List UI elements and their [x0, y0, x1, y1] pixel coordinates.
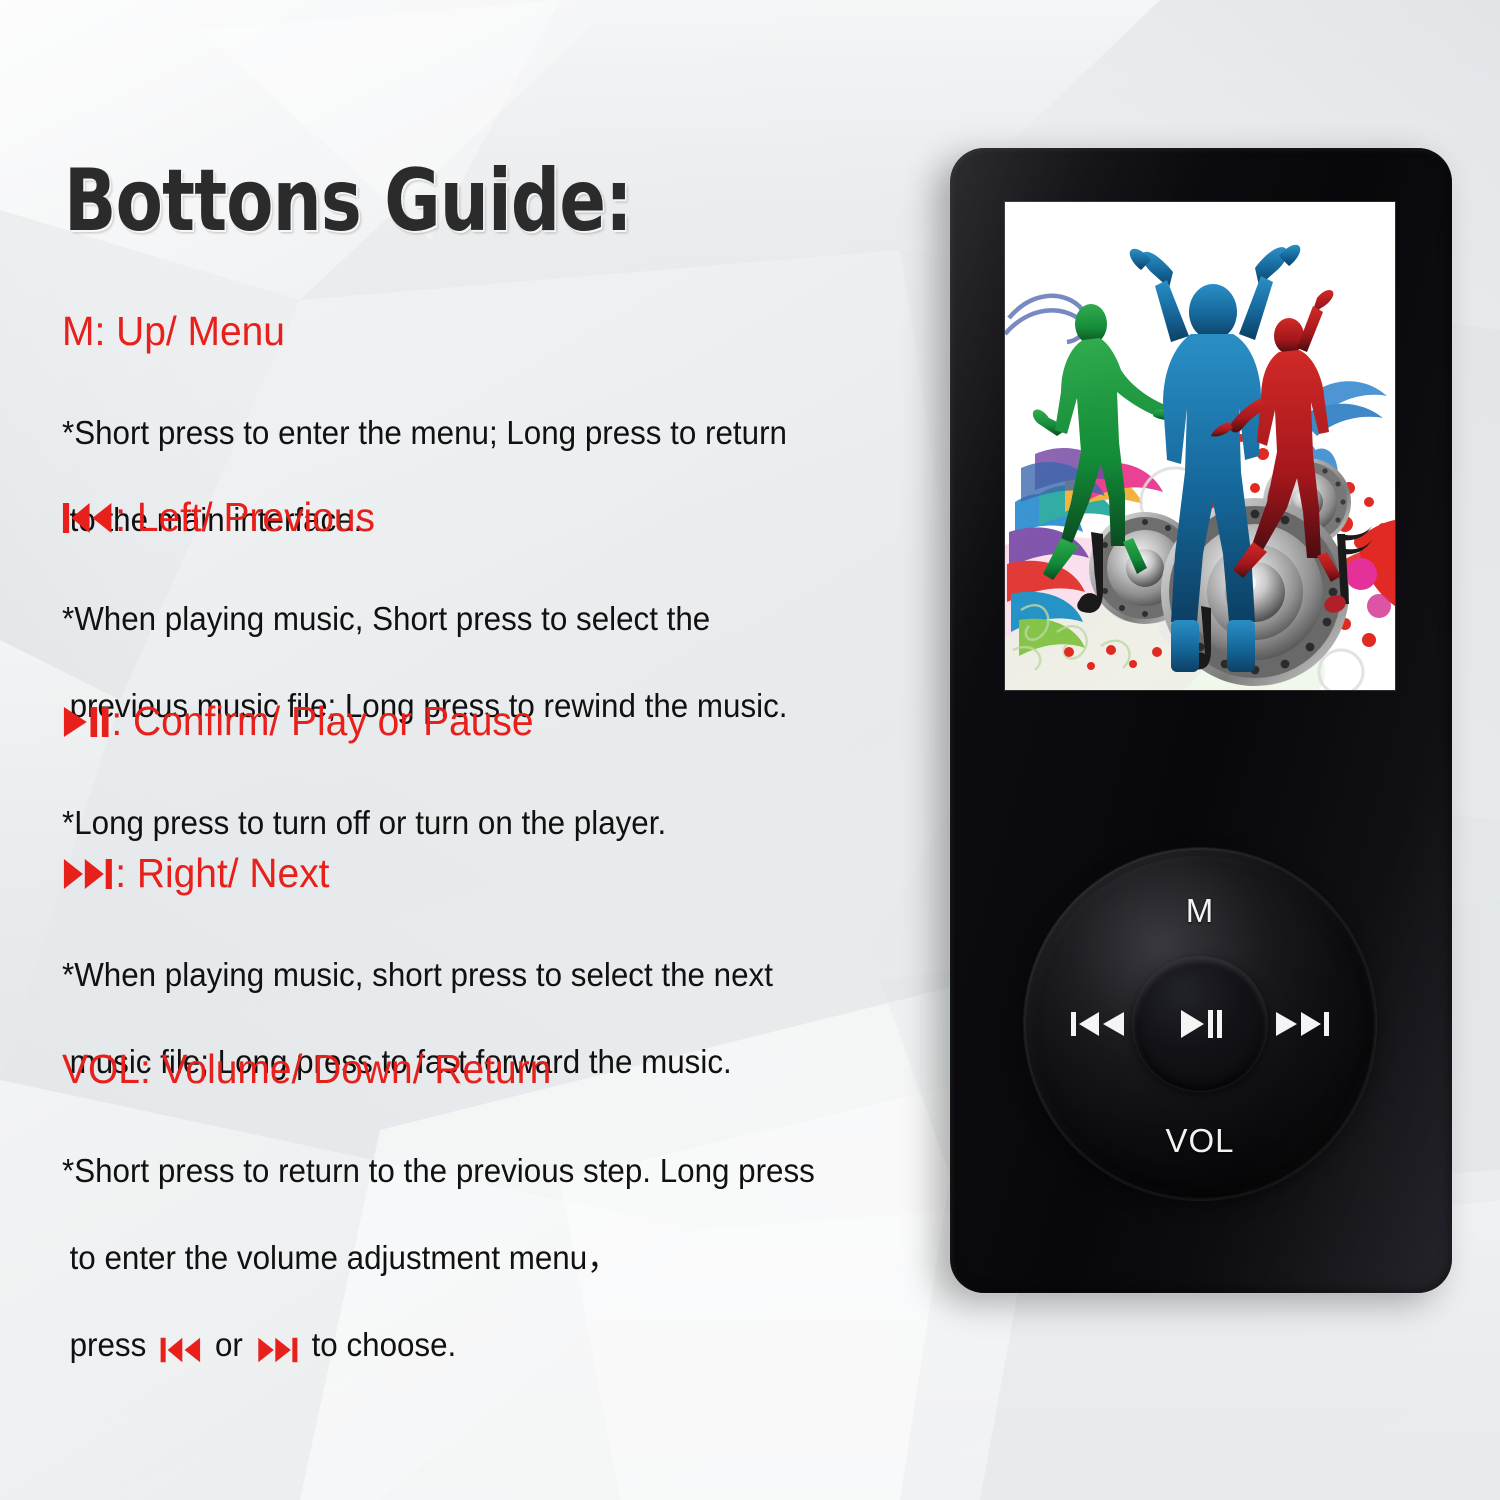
- guide-text-column: Bottons Guide: M: Up/ Menu *Short press …: [0, 0, 940, 1500]
- skip-next-icon: [62, 857, 113, 891]
- section-body-volume: *Short press to return to the previous s…: [62, 1105, 815, 1410]
- body-line-with-icons: press or: [62, 1323, 815, 1367]
- body-line: *When playing music, Short press to sele…: [62, 597, 787, 641]
- player-screen: [1005, 202, 1395, 690]
- final-line-middle: or: [215, 1326, 243, 1363]
- section-heading-text-volume: VOL: Volume/ Down/ Return: [62, 1048, 551, 1091]
- skip-previous-icon: [62, 501, 113, 535]
- final-line-prefix: press: [70, 1326, 147, 1363]
- body-line: *When playing music, short press to sele…: [62, 953, 773, 997]
- play-pause-icon: [62, 705, 110, 739]
- control-wheel[interactable]: M VOL: [1024, 848, 1376, 1200]
- final-line-suffix: to choose.: [312, 1326, 457, 1363]
- body-line: *Short press to enter the menu; Long pre…: [62, 411, 787, 455]
- skip-next-icon: [256, 1336, 298, 1364]
- section-heading-previous: : Left/ Previous: [62, 496, 787, 539]
- section-heading-volume: VOL: Volume/ Down/ Return: [62, 1048, 815, 1091]
- section-heading-menu: M: Up/ Menu: [62, 310, 787, 353]
- guide-section-volume: VOL: Volume/ Down/ Return *Short press t…: [62, 1048, 854, 1410]
- skip-previous-icon: [160, 1336, 202, 1364]
- skip-next-icon: [1274, 1009, 1330, 1039]
- wheel-previous-button[interactable]: [1070, 1009, 1126, 1039]
- section-heading-play-pause: : Confirm/ Play or Pause: [62, 700, 666, 743]
- body-line: *Short press to return to the previous s…: [62, 1149, 815, 1193]
- body-line: *Long press to turn off or turn on the p…: [62, 801, 666, 845]
- play-pause-icon: [1177, 1007, 1223, 1041]
- page-title: Bottons Guide:: [64, 158, 632, 244]
- section-heading-text-menu: M: Up/ Menu: [62, 310, 285, 353]
- wheel-next-button[interactable]: [1274, 1009, 1330, 1039]
- product-guide-image: Bottons Guide: M: Up/ Menu *Short press …: [0, 0, 1500, 1500]
- wheel-volume-button[interactable]: VOL: [1024, 1122, 1376, 1160]
- skip-previous-icon: [1070, 1009, 1126, 1039]
- wheel-menu-button[interactable]: M: [1024, 892, 1376, 930]
- body-line: to enter the volume adjustment menu，: [62, 1236, 815, 1280]
- section-heading-text-play-pause: : Confirm/ Play or Pause: [111, 700, 533, 743]
- mp3-player: M VOL: [950, 148, 1452, 1293]
- section-heading-text-next: : Right/ Next: [115, 852, 329, 895]
- wheel-play-pause-button[interactable]: [1133, 957, 1267, 1091]
- section-heading-next: : Right/ Next: [62, 852, 773, 895]
- section-heading-text-previous: : Left/ Previous: [115, 496, 375, 539]
